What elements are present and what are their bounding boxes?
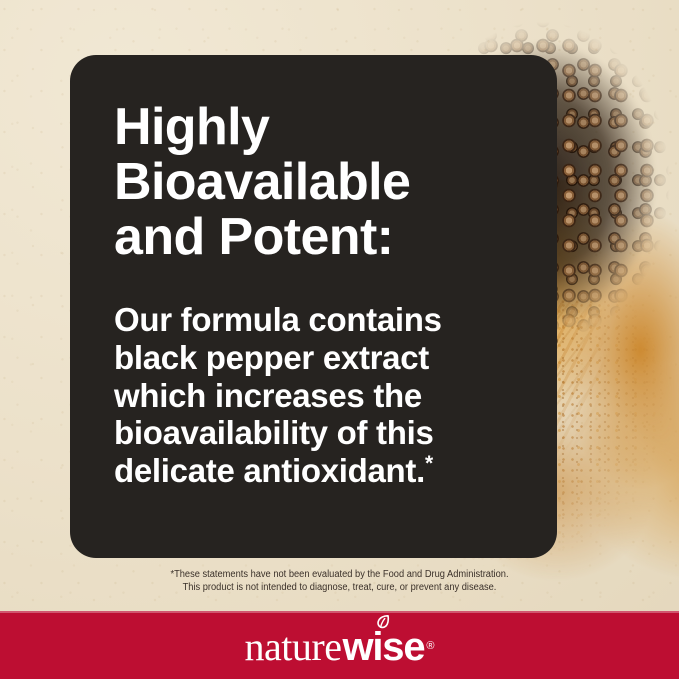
disclaimer-line-1: *These statements have not been evaluate… (24, 568, 655, 581)
headline-line-2: Bioavailable (114, 155, 505, 210)
card-body-copy: Our formula contains black pepper extrac… (114, 301, 505, 489)
message-card: Highly Bioavailable and Potent: Our form… (70, 55, 557, 558)
logo-text-nature: nature (245, 623, 342, 670)
logo-text-wise: wise (342, 625, 424, 670)
product-infographic: Highly Bioavailable and Potent: Our form… (0, 0, 679, 679)
body-line-5-text: delicate antioxidant. (114, 452, 425, 489)
headline-line-3: and Potent: (114, 210, 505, 265)
body-line-5: delicate antioxidant.* (114, 452, 505, 490)
body-line-3: which increases the (114, 377, 505, 415)
body-line-4: bioavailability of this (114, 414, 505, 452)
footnote-marker: * (425, 452, 433, 475)
naturewise-logo: nature wise ® (245, 623, 435, 670)
disclaimer-line-2: This product is not intended to diagnose… (24, 581, 655, 594)
body-line-1: Our formula contains (114, 301, 505, 339)
leaf-icon (374, 614, 391, 631)
brand-banner: nature wise ® (0, 611, 679, 679)
registered-trademark-symbol: ® (426, 640, 434, 652)
body-line-2: black pepper extract (114, 339, 505, 377)
legal-disclaimer: *These statements have not been evaluate… (24, 568, 655, 595)
card-headline: Highly Bioavailable and Potent: (114, 100, 505, 265)
headline-line-1: Highly (114, 100, 505, 155)
